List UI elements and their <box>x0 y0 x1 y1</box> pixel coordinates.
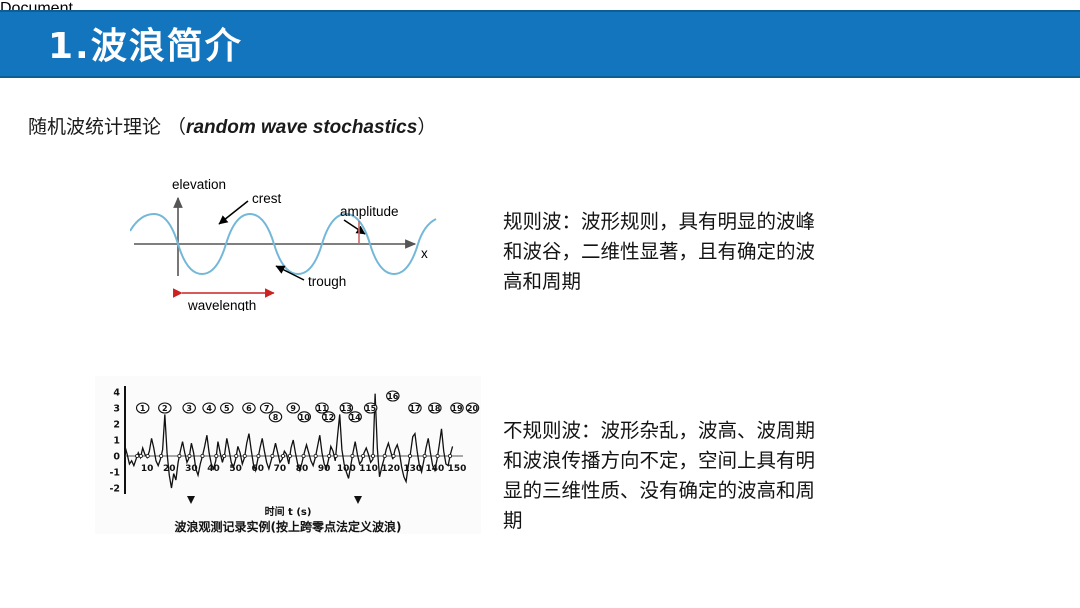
y-tick-label: 4 <box>113 388 120 399</box>
irregular-down-markers <box>187 496 362 504</box>
wave-number-20: 20 <box>466 403 478 413</box>
amplitude-leader-line <box>344 220 365 234</box>
irregular-chart-title-caption: 波浪观测记录实例(按上跨零点法定义波浪) <box>175 519 402 534</box>
svg-text:1: 1 <box>140 404 146 413</box>
zero-up-crossing-marker <box>383 454 386 457</box>
svg-text:3: 3 <box>186 404 192 413</box>
regular-wave-description: 规则波：波形规则，具有明显的波峰和波谷，二维性显著，且有确定的波高和周期 <box>503 207 833 297</box>
svg-text:10: 10 <box>299 413 311 422</box>
zero-up-crossing-marker <box>160 454 163 457</box>
wave-number-12: 12 <box>322 412 334 422</box>
zero-up-crossing-marker <box>328 454 331 457</box>
svg-text:12: 12 <box>323 413 334 422</box>
svg-text:20: 20 <box>467 404 479 413</box>
wave-number-15: 15 <box>364 403 376 413</box>
svg-text:2: 2 <box>162 404 168 413</box>
zero-up-crossing-marker <box>448 454 451 457</box>
wave-number-8: 8 <box>269 412 281 422</box>
x-tick-label: 120 <box>381 464 400 474</box>
slide-title-bar: 1.波浪简介 <box>0 10 1080 78</box>
zero-up-crossing-marker <box>351 454 354 457</box>
svg-text:7: 7 <box>264 404 270 413</box>
svg-text:15: 15 <box>365 404 377 413</box>
wave-number-16: 16 <box>387 391 399 401</box>
amplitude-label: amplitude <box>340 204 399 219</box>
svg-text:16: 16 <box>387 392 399 401</box>
wave-number-18: 18 <box>429 403 441 413</box>
zero-up-crossing-marker <box>302 454 305 457</box>
regular-wave-x-axis-label: x <box>421 246 428 261</box>
wave-number-1: 1 <box>137 403 149 413</box>
zero-up-crossing-marker <box>235 454 238 457</box>
x-tick-label: 70 <box>274 464 287 474</box>
svg-text:4: 4 <box>206 404 212 413</box>
subtitle-latin-term: random wave stochastics <box>186 117 417 138</box>
svg-text:13: 13 <box>341 404 352 413</box>
irregular-y-tick-labels: -2-101234 <box>109 388 120 495</box>
y-tick-label: 1 <box>113 436 120 447</box>
zero-up-crossing-marker <box>139 454 142 457</box>
y-tick-label: -2 <box>109 484 120 495</box>
zero-up-crossing-marker <box>281 454 284 457</box>
wave-number-17: 17 <box>409 403 421 413</box>
zero-up-crossing-marker <box>223 454 226 457</box>
y-tick-label: 0 <box>113 452 120 463</box>
crest-leader-line <box>219 201 248 224</box>
wave-number-9: 9 <box>287 403 299 413</box>
down-marker-2 <box>354 496 362 504</box>
page-title: 1.波浪简介 <box>48 17 243 69</box>
wave-number-6: 6 <box>243 403 255 413</box>
irregular-wave-record-chart: -2-101234 102030405060708090100110120130… <box>95 376 481 534</box>
zero-up-crossing-marker <box>334 454 337 457</box>
irregular-x-tick-labels: 102030405060708090100110120130140150 <box>141 464 467 474</box>
svg-text:18: 18 <box>429 404 441 413</box>
subtitle-close-paren: ） <box>417 116 436 138</box>
zero-up-crossing-marker <box>314 454 317 457</box>
wave-number-7: 7 <box>260 403 272 413</box>
wave-number-14: 14 <box>349 412 361 422</box>
zero-up-crossing-marker <box>257 454 260 457</box>
zero-up-crossing-marker <box>201 454 204 457</box>
y-tick-label: 3 <box>113 404 120 415</box>
zero-up-crossing-marker <box>392 454 395 457</box>
x-tick-label: 110 <box>359 464 378 474</box>
subtitle-cjk: 随机波统计理论 （ <box>28 116 186 138</box>
trough-label: trough <box>308 274 346 289</box>
down-marker-1 <box>187 496 195 504</box>
y-tick-label: 2 <box>113 420 120 431</box>
wave-number-11: 11 <box>316 403 328 413</box>
wave-number-3: 3 <box>183 403 195 413</box>
zero-up-crossing-marker <box>243 454 246 457</box>
x-tick-label: 50 <box>229 464 242 474</box>
zero-up-crossing-marker <box>288 454 291 457</box>
zero-up-crossing-marker <box>136 454 139 457</box>
svg-text:14: 14 <box>350 413 362 422</box>
svg-text:17: 17 <box>409 404 420 413</box>
wave-number-13: 13 <box>340 403 352 413</box>
svg-text:8: 8 <box>273 413 279 422</box>
wavelength-label: wavelength <box>187 298 256 311</box>
zero-up-crossing-marker <box>188 454 191 457</box>
zero-up-crossing-marker <box>362 454 365 457</box>
y-tick-label: -1 <box>109 468 120 479</box>
zero-up-crossing-marker <box>423 454 426 457</box>
zero-up-crossing-marker <box>271 454 274 457</box>
wave-number-10: 10 <box>298 412 310 422</box>
crest-label: crest <box>252 191 282 206</box>
x-tick-label: 150 <box>448 464 467 474</box>
svg-text:5: 5 <box>224 404 230 413</box>
irregular-wave-description: 不规则波：波形杂乱，波高、波周期和波浪传播方向不定，空间上具有明显的三维性质、没… <box>503 416 833 536</box>
regular-wave-diagram: elevation x crest trough amplitude wavel… <box>130 176 450 311</box>
irregular-chart-axis-caption: 时间 t (s) <box>265 505 312 518</box>
zero-up-crossing-marker <box>178 454 181 457</box>
wave-number-2: 2 <box>159 403 171 413</box>
zero-up-crossing-marker <box>408 454 411 457</box>
zero-up-crossing-marker <box>436 454 439 457</box>
svg-text:9: 9 <box>290 404 296 413</box>
irregular-wave-number-markers: 1234567891011121314151617181920 <box>137 391 479 422</box>
regular-wave-y-axis-label: elevation <box>172 177 226 192</box>
zero-up-crossing-marker <box>371 454 374 457</box>
wave-number-4: 4 <box>203 403 215 413</box>
subtitle: 随机波统计理论 （random wave stochastics） <box>28 112 436 139</box>
zero-up-crossing-marker <box>215 454 218 457</box>
wave-number-19: 19 <box>451 403 463 413</box>
svg-text:19: 19 <box>451 404 463 413</box>
wave-number-5: 5 <box>221 403 233 413</box>
x-tick-label: 10 <box>141 464 154 474</box>
zero-up-crossing-marker <box>146 454 149 457</box>
svg-text:6: 6 <box>246 404 252 413</box>
